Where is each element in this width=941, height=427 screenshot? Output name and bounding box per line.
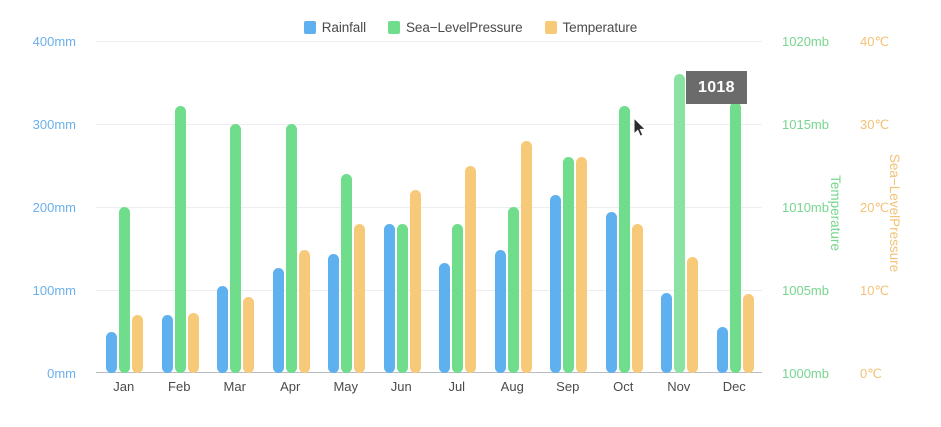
bar-dec-rainfall[interactable]	[717, 327, 728, 373]
bar-mar-temperature[interactable]	[243, 297, 254, 373]
bar-jul-rainfall[interactable]	[439, 263, 450, 373]
bar-jun-sea-levelpressure[interactable]	[397, 224, 408, 373]
bar-apr-rainfall[interactable]	[273, 268, 284, 373]
bar-group-oct	[596, 41, 652, 373]
bar-jun-rainfall[interactable]	[384, 224, 395, 373]
bar-mar-sea-levelpressure[interactable]	[230, 124, 241, 373]
bar-group-aug	[485, 41, 541, 373]
chart-container: RainfallSea−LevelPressureTemperature 0mm…	[0, 0, 941, 427]
bar-may-sea-levelpressure[interactable]	[341, 174, 352, 373]
bar-apr-temperature[interactable]	[299, 250, 310, 373]
category-label-jul: Jul	[429, 378, 485, 398]
green-tick-0: 1000mb	[782, 367, 829, 380]
bar-feb-sea-levelpressure[interactable]	[175, 106, 186, 373]
left-tick-0: 0mm	[47, 367, 76, 380]
green-tick-3: 1015mb	[782, 118, 829, 131]
category-label-nov: Nov	[651, 378, 707, 398]
bar-oct-rainfall[interactable]	[606, 212, 617, 373]
legend-item-1[interactable]: Sea−LevelPressure	[388, 20, 523, 35]
orange-axis-name: Sea−LevelPressure	[887, 154, 901, 272]
bar-may-temperature[interactable]	[354, 224, 365, 373]
bar-group-jun	[374, 41, 430, 373]
legend-item-label: Rainfall	[322, 20, 366, 35]
bar-nov-temperature[interactable]	[687, 257, 698, 373]
bar-series-container	[96, 41, 762, 373]
orange-tick-2: 20℃	[860, 201, 889, 214]
bar-dec-temperature[interactable]	[743, 294, 754, 373]
bar-aug-temperature[interactable]	[521, 141, 532, 373]
rainfall-axis: 0mm100mm200mm300mm400mm	[0, 41, 86, 373]
category-label-jan: Jan	[96, 378, 152, 398]
legend-item-0[interactable]: Rainfall	[304, 20, 366, 35]
category-label-sep: Sep	[540, 378, 596, 398]
bar-aug-sea-levelpressure[interactable]	[508, 207, 519, 373]
bar-oct-sea-levelpressure[interactable]	[619, 106, 630, 373]
bar-group-apr	[263, 41, 319, 373]
category-label-apr: Apr	[263, 378, 319, 398]
category-label-feb: Feb	[152, 378, 208, 398]
value-tooltip: 1018	[686, 71, 747, 104]
bar-group-jul	[429, 41, 485, 373]
bar-group-feb	[152, 41, 208, 373]
legend-swatch-icon	[545, 21, 557, 34]
bar-oct-temperature[interactable]	[632, 224, 643, 373]
bar-nov-sea-levelpressure[interactable]	[674, 74, 685, 373]
orange-tick-1: 10℃	[860, 284, 889, 297]
bar-group-sep	[540, 41, 596, 373]
bar-aug-rainfall[interactable]	[495, 250, 506, 373]
legend-item-label: Sea−LevelPressure	[406, 20, 523, 35]
bar-jun-temperature[interactable]	[410, 190, 421, 373]
bar-sep-temperature[interactable]	[576, 157, 587, 373]
bar-group-jan	[96, 41, 152, 373]
left-tick-4: 400mm	[33, 35, 76, 48]
category-label-dec: Dec	[707, 378, 763, 398]
bar-jul-sea-levelpressure[interactable]	[452, 224, 463, 373]
category-label-may: May	[318, 378, 374, 398]
green-tick-2: 1010mb	[782, 201, 829, 214]
legend-swatch-icon	[388, 21, 400, 34]
category-label-aug: Aug	[485, 378, 541, 398]
bar-sep-rainfall[interactable]	[550, 195, 561, 373]
category-label-jun: Jun	[374, 378, 430, 398]
category-label-oct: Oct	[596, 378, 652, 398]
temperature-axis: 0℃10℃20℃30℃40℃	[850, 41, 920, 373]
orange-tick-4: 40℃	[860, 35, 889, 48]
green-tick-4: 1020mb	[782, 35, 829, 48]
bar-dec-sea-levelpressure[interactable]	[730, 102, 741, 373]
category-axis-labels: JanFebMarAprMayJunJulAugSepOctNovDec	[96, 378, 762, 398]
bar-nov-rainfall[interactable]	[661, 293, 672, 373]
left-tick-2: 200mm	[33, 201, 76, 214]
left-tick-1: 100mm	[33, 284, 76, 297]
left-tick-3: 300mm	[33, 118, 76, 131]
bar-jul-temperature[interactable]	[465, 166, 476, 374]
bar-jan-rainfall[interactable]	[106, 332, 117, 374]
orange-tick-0: 0℃	[860, 367, 882, 380]
bar-jan-sea-levelpressure[interactable]	[119, 207, 130, 373]
green-tick-1: 1005mb	[782, 284, 829, 297]
legend-item-label: Temperature	[563, 20, 638, 35]
bar-may-rainfall[interactable]	[328, 254, 339, 373]
bar-sep-sea-levelpressure[interactable]	[563, 157, 574, 373]
bar-feb-temperature[interactable]	[188, 313, 199, 373]
plot-area	[96, 41, 762, 373]
orange-tick-3: 30℃	[860, 118, 889, 131]
bar-group-may	[318, 41, 374, 373]
bar-mar-rainfall[interactable]	[217, 286, 228, 373]
legend-swatch-icon	[304, 21, 316, 34]
legend-item-2[interactable]: Temperature	[545, 20, 638, 35]
bar-apr-sea-levelpressure[interactable]	[286, 124, 297, 373]
bar-feb-rainfall[interactable]	[162, 315, 173, 373]
bar-group-mar	[207, 41, 263, 373]
bar-jan-temperature[interactable]	[132, 315, 143, 373]
green-axis-name: Temperature	[828, 175, 842, 251]
category-label-mar: Mar	[207, 378, 263, 398]
